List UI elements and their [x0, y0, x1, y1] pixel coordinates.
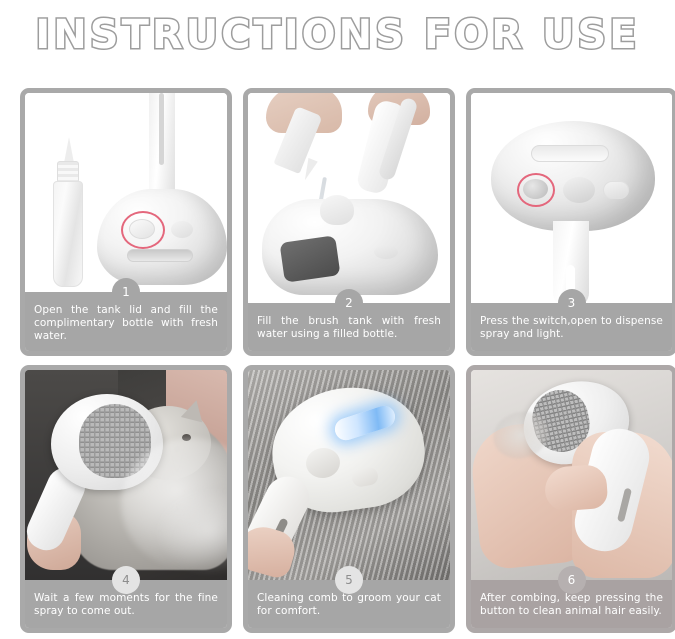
groom-cat-graphic — [248, 370, 450, 580]
step-panel-6: 6 After combing, keep pressing the butto… — [466, 365, 675, 633]
step-3-caption-bar: 3 Press the switch,open to dispense spra… — [471, 303, 672, 351]
step-badge-4: 4 — [112, 566, 140, 594]
device-vent-icon — [279, 235, 340, 282]
highlight-ring-tank-lid — [121, 211, 165, 249]
tank-port-icon — [320, 195, 354, 225]
step-panel-3: 3 Press the switch,open to dispense spra… — [466, 88, 675, 356]
step-4-illustration — [25, 370, 227, 580]
device-head-icon — [491, 121, 655, 231]
step-3-caption-text: Press the switch,open to dispense spray … — [480, 315, 663, 341]
thumb-icon — [544, 464, 609, 512]
step-2-caption-text: Fill the brush tank with fresh water usi… — [257, 315, 441, 341]
device-button-icon — [603, 181, 629, 199]
step-badge-1: 1 — [112, 278, 140, 306]
brush-device-graphic — [97, 93, 227, 289]
highlight-ring-power-switch — [517, 173, 555, 207]
step-4-caption-text: Wait a few moments for the fine spray to… — [34, 592, 218, 618]
bottle-body-icon — [53, 181, 83, 287]
page-title-container: INSTRUCTIONS FOR USE — [0, 8, 675, 62]
step-badge-3: 3 — [558, 289, 586, 317]
step-6-illustration — [471, 370, 672, 580]
device-button-icon — [374, 245, 398, 259]
step-1-illustration — [25, 93, 227, 292]
step-1-caption-text: Open the tank lid and fill the complimen… — [34, 304, 218, 343]
step-panel-4: 4 Wait a few moments for the fine spray … — [20, 365, 232, 633]
step-5-caption-text: Cleaning comb to groom your cat for comf… — [257, 592, 441, 618]
clean-hair-graphic — [471, 370, 672, 580]
step-panel-5: 5 Cleaning comb to groom your cat for co… — [243, 365, 455, 633]
device-slot-icon — [531, 145, 609, 162]
step-badge-6: 6 — [558, 566, 586, 594]
step-badge-5: 5 — [335, 566, 363, 594]
instructions-infographic: INSTRUCTIONS FOR USE — [0, 0, 675, 639]
device-knob-icon — [171, 221, 193, 238]
step-1-caption-bar: 1 Open the tank lid and fill the complim… — [25, 292, 227, 351]
step-2-illustration — [248, 93, 450, 303]
dropper-bottle-graphic — [51, 139, 85, 287]
step-panel-1: 1 Open the tank lid and fill the complim… — [20, 88, 232, 356]
spray-cat-graphic — [25, 370, 227, 580]
device-vent-icon — [127, 249, 193, 262]
step-5-caption-bar: 5 Cleaning comb to groom your cat for co… — [248, 580, 450, 628]
step-6-caption-bar: 6 After combing, keep pressing the butto… — [471, 580, 672, 628]
fill-tank-graphic — [248, 93, 450, 303]
steps-grid: 1 Open the tank lid and fill the complim… — [20, 88, 655, 633]
switch-detail-graphic — [471, 93, 672, 303]
step-4-caption-bar: 4 Wait a few moments for the fine spray … — [25, 580, 227, 628]
step-badge-2: 2 — [335, 289, 363, 317]
step-2-caption-bar: 2 Fill the brush tank with fresh water u… — [248, 303, 450, 351]
step-5-illustration — [248, 370, 450, 580]
page-title: INSTRUCTIONS FOR USE — [35, 8, 639, 62]
device-knob-icon — [563, 177, 595, 203]
device-handle-slot-icon — [159, 93, 164, 165]
step-3-illustration — [471, 93, 672, 303]
bottle-nozzle-icon — [64, 137, 74, 163]
step-panel-2: 2 Fill the brush tank with fresh water u… — [243, 88, 455, 356]
bottle-collar-icon — [57, 161, 79, 183]
step-6-caption-text: After combing, keep pressing the button … — [480, 592, 663, 618]
